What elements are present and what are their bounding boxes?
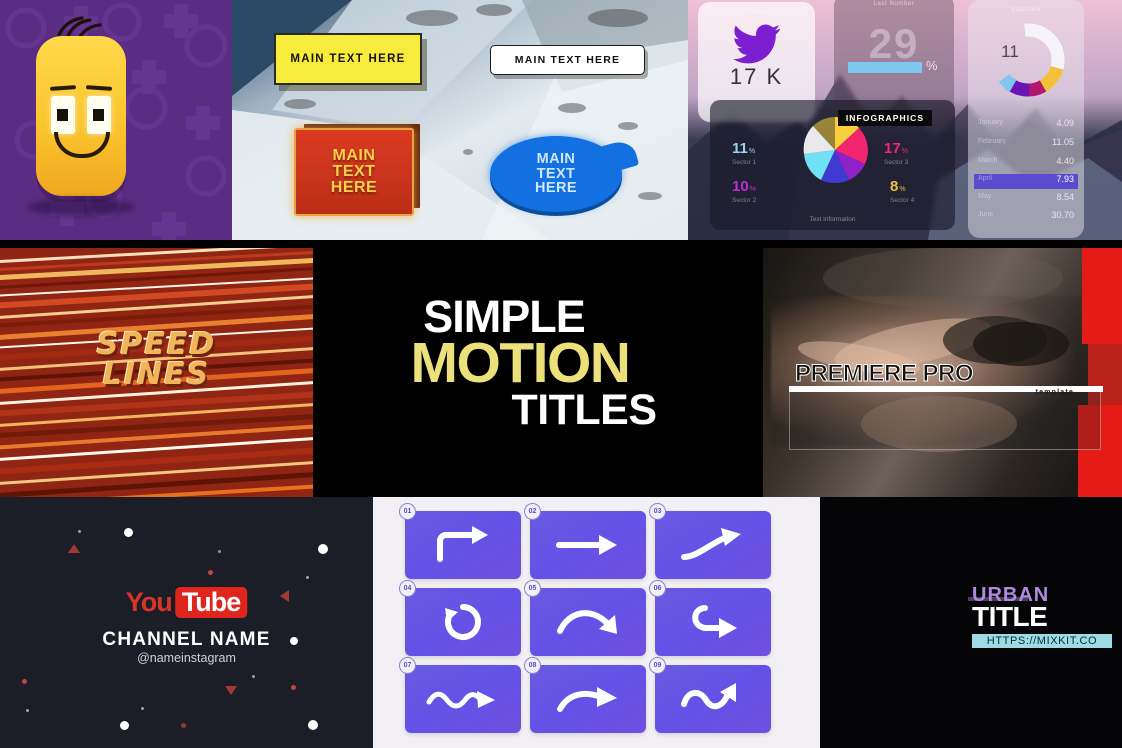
decor-triangle xyxy=(225,686,237,695)
cell-urban-title[interactable]: URBAN TITLE HTTPS://MIXKIT.CO xyxy=(820,497,1122,748)
speed-lines-title: SPEED LINES xyxy=(0,330,313,390)
premiere-frame xyxy=(789,388,1101,450)
decor-dot xyxy=(22,679,27,684)
stat-name: June xyxy=(978,211,993,218)
sector-value: 10 xyxy=(732,178,749,195)
cell-youtube-endcard[interactable]: You Tube CHANNEL NAME @nameinstagram xyxy=(0,497,373,748)
stat-value: 4.40 xyxy=(1056,156,1074,166)
sector-unit: % xyxy=(902,148,908,155)
sector-value: 8 xyxy=(890,178,898,195)
info-percentage-bar xyxy=(848,62,922,73)
stat-row[interactable]: February 11.05 xyxy=(974,137,1078,152)
youtube-logo[interactable]: You Tube xyxy=(126,587,248,618)
premiere-subtitle: template xyxy=(1036,389,1074,396)
stat-value: 30.70 xyxy=(1051,210,1074,220)
stat-value: 11.05 xyxy=(1052,137,1074,147)
text-box-red[interactable]: MAINTEXTHERE xyxy=(294,128,414,216)
mascot-eye-left xyxy=(51,96,75,134)
twitter-bird-icon xyxy=(733,24,781,64)
stat-name: February xyxy=(978,138,1006,145)
decor-dot xyxy=(252,675,255,678)
youtube-logo-tube: Tube xyxy=(175,587,248,618)
youtube-handle: @nameinstagram xyxy=(0,651,373,665)
cell-snow-text-boxes[interactable]: MAIN TEXT HERE MAIN TEXT HERE MAINTEXTHE… xyxy=(232,0,688,240)
stat-row[interactable]: May 8.54 xyxy=(974,192,1078,207)
decor-dot xyxy=(306,576,309,579)
decor-dot xyxy=(26,709,29,712)
sector-label: Sector 3 xyxy=(884,159,908,166)
premiere-title: PREMIERE PRO xyxy=(795,360,1107,388)
text-box-white-label: MAIN TEXT HERE xyxy=(515,54,620,66)
infographics-badge-label: INFOGRAPHICS xyxy=(846,113,924,123)
info-twitter-count: 17 K xyxy=(698,64,815,90)
text-box-white[interactable]: MAIN TEXT HERE xyxy=(490,45,645,75)
stat-name: May xyxy=(978,193,991,200)
speed-lines-line1: SPEED xyxy=(0,330,313,360)
info-percentage-symbol: % xyxy=(926,58,938,73)
info-card-percentage-label: Last Number xyxy=(834,1,954,7)
stat-row-highlighted[interactable]: April 7.93 xyxy=(974,174,1078,189)
sector-unit: % xyxy=(899,186,905,193)
cell-simple-motion-titles[interactable]: SIMPLE MOTION TITLES xyxy=(313,248,763,497)
sector-unit: % xyxy=(750,186,756,193)
mascot-pupil-left xyxy=(57,109,68,121)
speed-lines-line2: LINES xyxy=(0,360,313,390)
arrow-grid: 01 02 03 04 xyxy=(405,511,771,733)
arrow-card-06[interactable]: 06 xyxy=(655,588,771,656)
sector-item: 8% Sector 4 xyxy=(890,178,914,204)
stat-name: April xyxy=(978,175,992,182)
stat-row[interactable]: January 4.09 xyxy=(974,118,1078,133)
text-box-yellow[interactable]: MAIN TEXT HERE xyxy=(274,33,422,85)
template-showcase-grid: MAIN TEXT HERE MAIN TEXT HERE MAINTEXTHE… xyxy=(0,0,1122,748)
decor-triangle xyxy=(280,590,289,602)
cell-arrow-pack[interactable]: 01 02 03 04 xyxy=(373,497,820,748)
cell-premiere-pro[interactable]: PREMIERE PRO template xyxy=(763,248,1122,497)
decor-dot xyxy=(291,685,296,690)
decor-dot xyxy=(181,723,186,728)
premiere-title-label: PREMIERE PRO xyxy=(795,360,973,388)
sector-item: 17% Sector 3 xyxy=(884,140,908,166)
arrow-bend-right-icon xyxy=(530,665,646,733)
sector-label: Sector 2 xyxy=(732,197,756,204)
arrow-card-03[interactable]: 03 xyxy=(655,511,771,579)
decor-dot xyxy=(120,721,129,730)
mascot-pupil-right xyxy=(93,109,104,121)
motion-title-line2: MOTION xyxy=(313,337,745,389)
info-card-statistics-label: Statistics xyxy=(968,7,1084,13)
arrow-zigzag-right-icon xyxy=(405,665,521,733)
youtube-logo-you: You xyxy=(126,587,172,618)
sector-unit: % xyxy=(749,148,755,155)
stat-row[interactable]: June 30.70 xyxy=(974,210,1078,225)
sector-item: 10% Sector 2 xyxy=(732,178,756,204)
sector-label: Sector 4 xyxy=(890,197,914,204)
stat-value: 8.54 xyxy=(1056,192,1074,202)
mascot-body xyxy=(36,36,126,196)
arrow-card-04[interactable]: 04 xyxy=(405,588,521,656)
urban-url: HTTPS://MIXKIT.CO xyxy=(972,634,1112,648)
sector-value: 17 xyxy=(884,140,901,157)
info-card-twitter-label: Twitter xyxy=(698,9,815,15)
youtube-channel-name: CHANNEL NAME xyxy=(0,629,373,651)
decor-dot xyxy=(218,550,221,553)
cell-character-mascot[interactable] xyxy=(0,0,232,240)
cell-infographics[interactable]: Twitter 17 K Last Number 29 % Statistics… xyxy=(688,0,1122,240)
arrow-card-07[interactable]: 07 xyxy=(405,665,521,733)
sector-label: Sector 1 xyxy=(732,159,756,166)
info-card-statistics[interactable]: Statistics 11 January 4.09 February 11.0… xyxy=(968,0,1084,238)
mascot-eye-right xyxy=(87,96,111,134)
arrow-card-09[interactable]: 09 xyxy=(655,665,771,733)
motion-titles-block: SIMPLE MOTION TITLES xyxy=(313,296,763,431)
decor-dot xyxy=(78,530,81,533)
stat-value: 4.09 xyxy=(1056,118,1074,128)
arrow-curve-up-right-icon xyxy=(655,511,771,579)
decor-dot xyxy=(318,544,328,554)
pie-chart-caption: Text information xyxy=(710,216,955,223)
arrow-card-02[interactable]: 02 xyxy=(530,511,646,579)
arrow-loop-refresh-icon xyxy=(405,588,521,656)
arrow-card-01[interactable]: 01 xyxy=(405,511,521,579)
text-box-yellow-label: MAIN TEXT HERE xyxy=(290,53,405,65)
donut-chart-value: 11 xyxy=(968,42,1052,62)
urban-word2-label: TITLE xyxy=(972,601,1047,632)
text-bubble-blue-label: MAINTEXTHERE xyxy=(535,152,577,196)
infographics-badge: INFOGRAPHICS xyxy=(838,110,932,126)
decor-dot xyxy=(124,528,133,537)
arrow-hook-right-icon xyxy=(655,588,771,656)
urban-title-word2: TITLE xyxy=(972,603,1112,631)
premiere-red-block-top xyxy=(1082,248,1122,344)
decor-dot xyxy=(141,707,144,710)
arrow-straight-right-icon xyxy=(530,511,646,579)
text-bubble-blue[interactable]: MAINTEXTHERE xyxy=(490,136,622,212)
sector-value: 11 xyxy=(732,140,748,157)
mascot-shadow xyxy=(28,198,134,216)
sector-item: 11% Sector 1 xyxy=(732,140,756,166)
arrow-card-08[interactable]: 08 xyxy=(530,665,646,733)
arrow-squiggle-up-right-icon xyxy=(655,665,771,733)
arrow-corner-right-icon xyxy=(405,511,521,579)
decor-dot xyxy=(308,720,318,730)
stat-value: 7.93 xyxy=(1056,174,1074,184)
urban-title-block: URBAN TITLE HTTPS://MIXKIT.CO xyxy=(972,585,1112,648)
decor-dot xyxy=(208,570,213,575)
text-box-red-label: MAINTEXTHERE xyxy=(331,148,377,197)
arrow-arc-down-right-icon xyxy=(530,588,646,656)
motion-title-line3: TITLES xyxy=(359,390,763,431)
arrow-card-05[interactable]: 05 xyxy=(530,588,646,656)
stat-name: January xyxy=(978,119,1003,126)
cell-speed-lines[interactable]: SPEED LINES xyxy=(0,248,313,497)
stat-name: March xyxy=(978,157,997,164)
mascot-brow-right xyxy=(86,85,112,91)
stat-row[interactable]: March 4.40 xyxy=(974,156,1078,171)
decor-triangle xyxy=(68,544,80,553)
mascot-brow-left xyxy=(50,85,76,91)
